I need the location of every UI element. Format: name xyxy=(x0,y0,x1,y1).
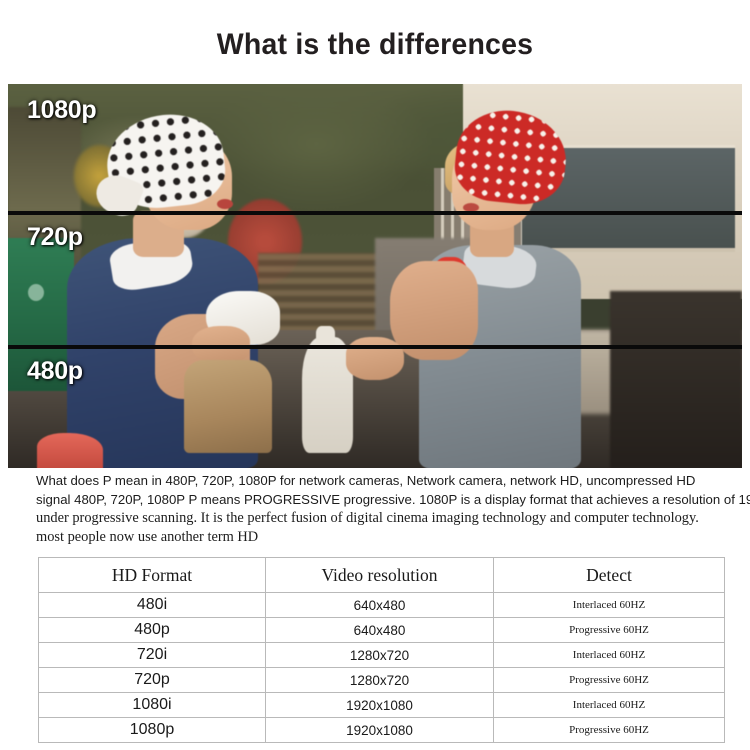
table-row: 480p 640x480 Progressive 60HZ xyxy=(39,618,725,643)
cell-resolution: 1920x1080 xyxy=(266,693,494,718)
table-row: 480i 640x480 Interlaced 60HZ xyxy=(39,593,725,618)
foreground-red-object xyxy=(37,433,103,468)
description-line-1: What does P mean in 480P, 720P, 1080P fo… xyxy=(36,471,750,490)
cell-detect: Interlaced 60HZ xyxy=(494,643,725,668)
band-label-720p: 720p xyxy=(27,224,83,250)
photo-scene xyxy=(8,84,742,468)
band-label-1080p: 1080p xyxy=(27,97,96,123)
band-divider-1080p-720p xyxy=(8,211,742,215)
cell-resolution: 1920x1080 xyxy=(266,718,494,743)
cell-detect: Progressive 60HZ xyxy=(494,618,725,643)
cell-format: 480i xyxy=(39,593,266,618)
cell-format: 720p xyxy=(39,668,266,693)
description-paragraph: What does P mean in 480P, 720P, 1080P fo… xyxy=(36,471,750,547)
brown-paper-bag xyxy=(184,360,272,452)
cell-format: 1080i xyxy=(39,693,266,718)
table-header-hd-format: HD Format xyxy=(39,558,266,593)
band-label-480p: 480p xyxy=(27,358,83,384)
cell-detect: Progressive 60HZ xyxy=(494,718,725,743)
gas-pump-knob xyxy=(28,284,44,301)
cell-format: 480p xyxy=(39,618,266,643)
cell-resolution: 640x480 xyxy=(266,618,494,643)
right-woman-lower-hand xyxy=(346,337,405,379)
table-row: 720p 1280x720 Progressive 60HZ xyxy=(39,668,725,693)
cell-detect: Progressive 60HZ xyxy=(494,668,725,693)
cell-resolution: 640x480 xyxy=(266,593,494,618)
resolution-comparison-image: 1080p 720p 480p xyxy=(8,84,742,468)
description-line-2: signal 480P, 720P, 1080P P means PROGRES… xyxy=(36,490,750,509)
band-divider-720p-480p xyxy=(8,345,742,349)
cell-detect: Interlaced 60HZ xyxy=(494,693,725,718)
foreground-machinery xyxy=(610,291,742,468)
table-header-row: HD Format Video resolution Detect xyxy=(39,558,725,593)
table-header-detect: Detect xyxy=(494,558,725,593)
cell-detect: Interlaced 60HZ xyxy=(494,593,725,618)
right-woman-red-headscarf xyxy=(451,105,570,208)
description-line-4: most people now use another term HD xyxy=(36,528,750,547)
cell-format: 720i xyxy=(39,643,266,668)
table-header-video-resolution: Video resolution xyxy=(266,558,494,593)
hd-format-table: HD Format Video resolution Detect 480i 6… xyxy=(38,557,725,743)
description-line-3: under progressive scanning. It is the pe… xyxy=(36,509,750,528)
table-row: 1080i 1920x1080 Interlaced 60HZ xyxy=(39,693,725,718)
table-row: 1080p 1920x1080 Progressive 60HZ xyxy=(39,718,725,743)
table-row: 720i 1280x720 Interlaced 60HZ xyxy=(39,643,725,668)
cell-format: 1080p xyxy=(39,718,266,743)
page-title: What is the differences xyxy=(19,0,732,62)
cell-resolution: 1280x720 xyxy=(266,668,494,693)
cell-resolution: 1280x720 xyxy=(266,643,494,668)
